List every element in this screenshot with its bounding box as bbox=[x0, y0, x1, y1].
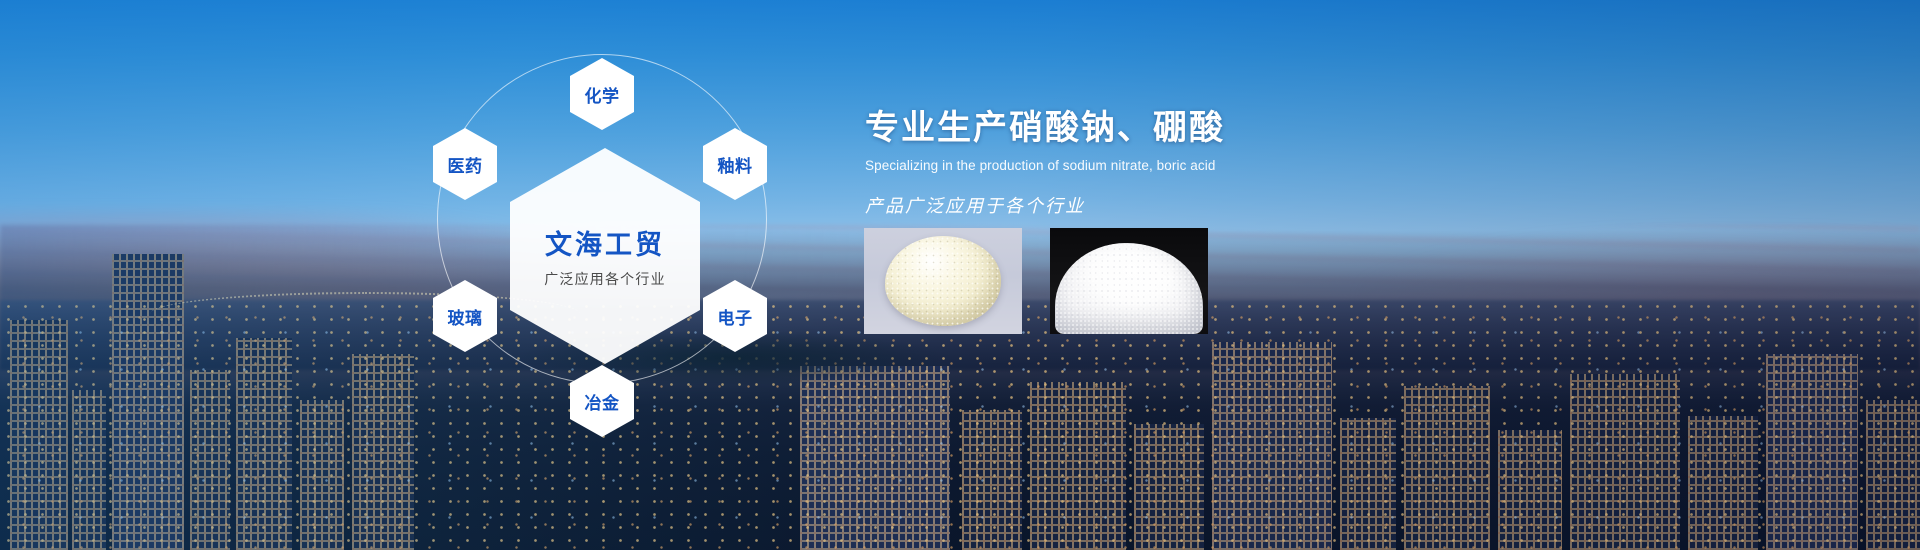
hex-node-label: 玻璃 bbox=[448, 304, 483, 329]
hero-banner: 化学 釉料 电子 冶金 玻璃 医药 文海工贸 广泛应用各个行业 专业生产硝酸钠、… bbox=[0, 0, 1920, 550]
banner-tagline: 产品广泛应用于各个行业 bbox=[865, 192, 1465, 218]
hex-node-label: 釉料 bbox=[718, 152, 753, 177]
product-photo-group bbox=[864, 228, 1208, 334]
company-name: 文海工贸 bbox=[545, 223, 665, 262]
product-photo-sodium-nitrate bbox=[864, 228, 1022, 334]
hex-node-label: 电子 bbox=[718, 304, 753, 329]
hex-node-label: 化学 bbox=[585, 82, 620, 107]
banner-headline: 专业生产硝酸钠、硼酸 bbox=[865, 100, 1465, 149]
banner-subline-english: Specializing in the production of sodium… bbox=[865, 158, 1465, 173]
industry-hex-diagram: 化学 釉料 电子 冶金 玻璃 医药 文海工贸 广泛应用各个行业 bbox=[415, 20, 835, 440]
hex-node-label: 医药 bbox=[448, 152, 483, 177]
hex-node-label: 冶金 bbox=[585, 389, 620, 414]
company-tagline: 广泛应用各个行业 bbox=[544, 269, 666, 289]
banner-copy: 专业生产硝酸钠、硼酸 Specializing in the productio… bbox=[865, 100, 1465, 218]
product-photo-boric-acid bbox=[1050, 228, 1208, 334]
